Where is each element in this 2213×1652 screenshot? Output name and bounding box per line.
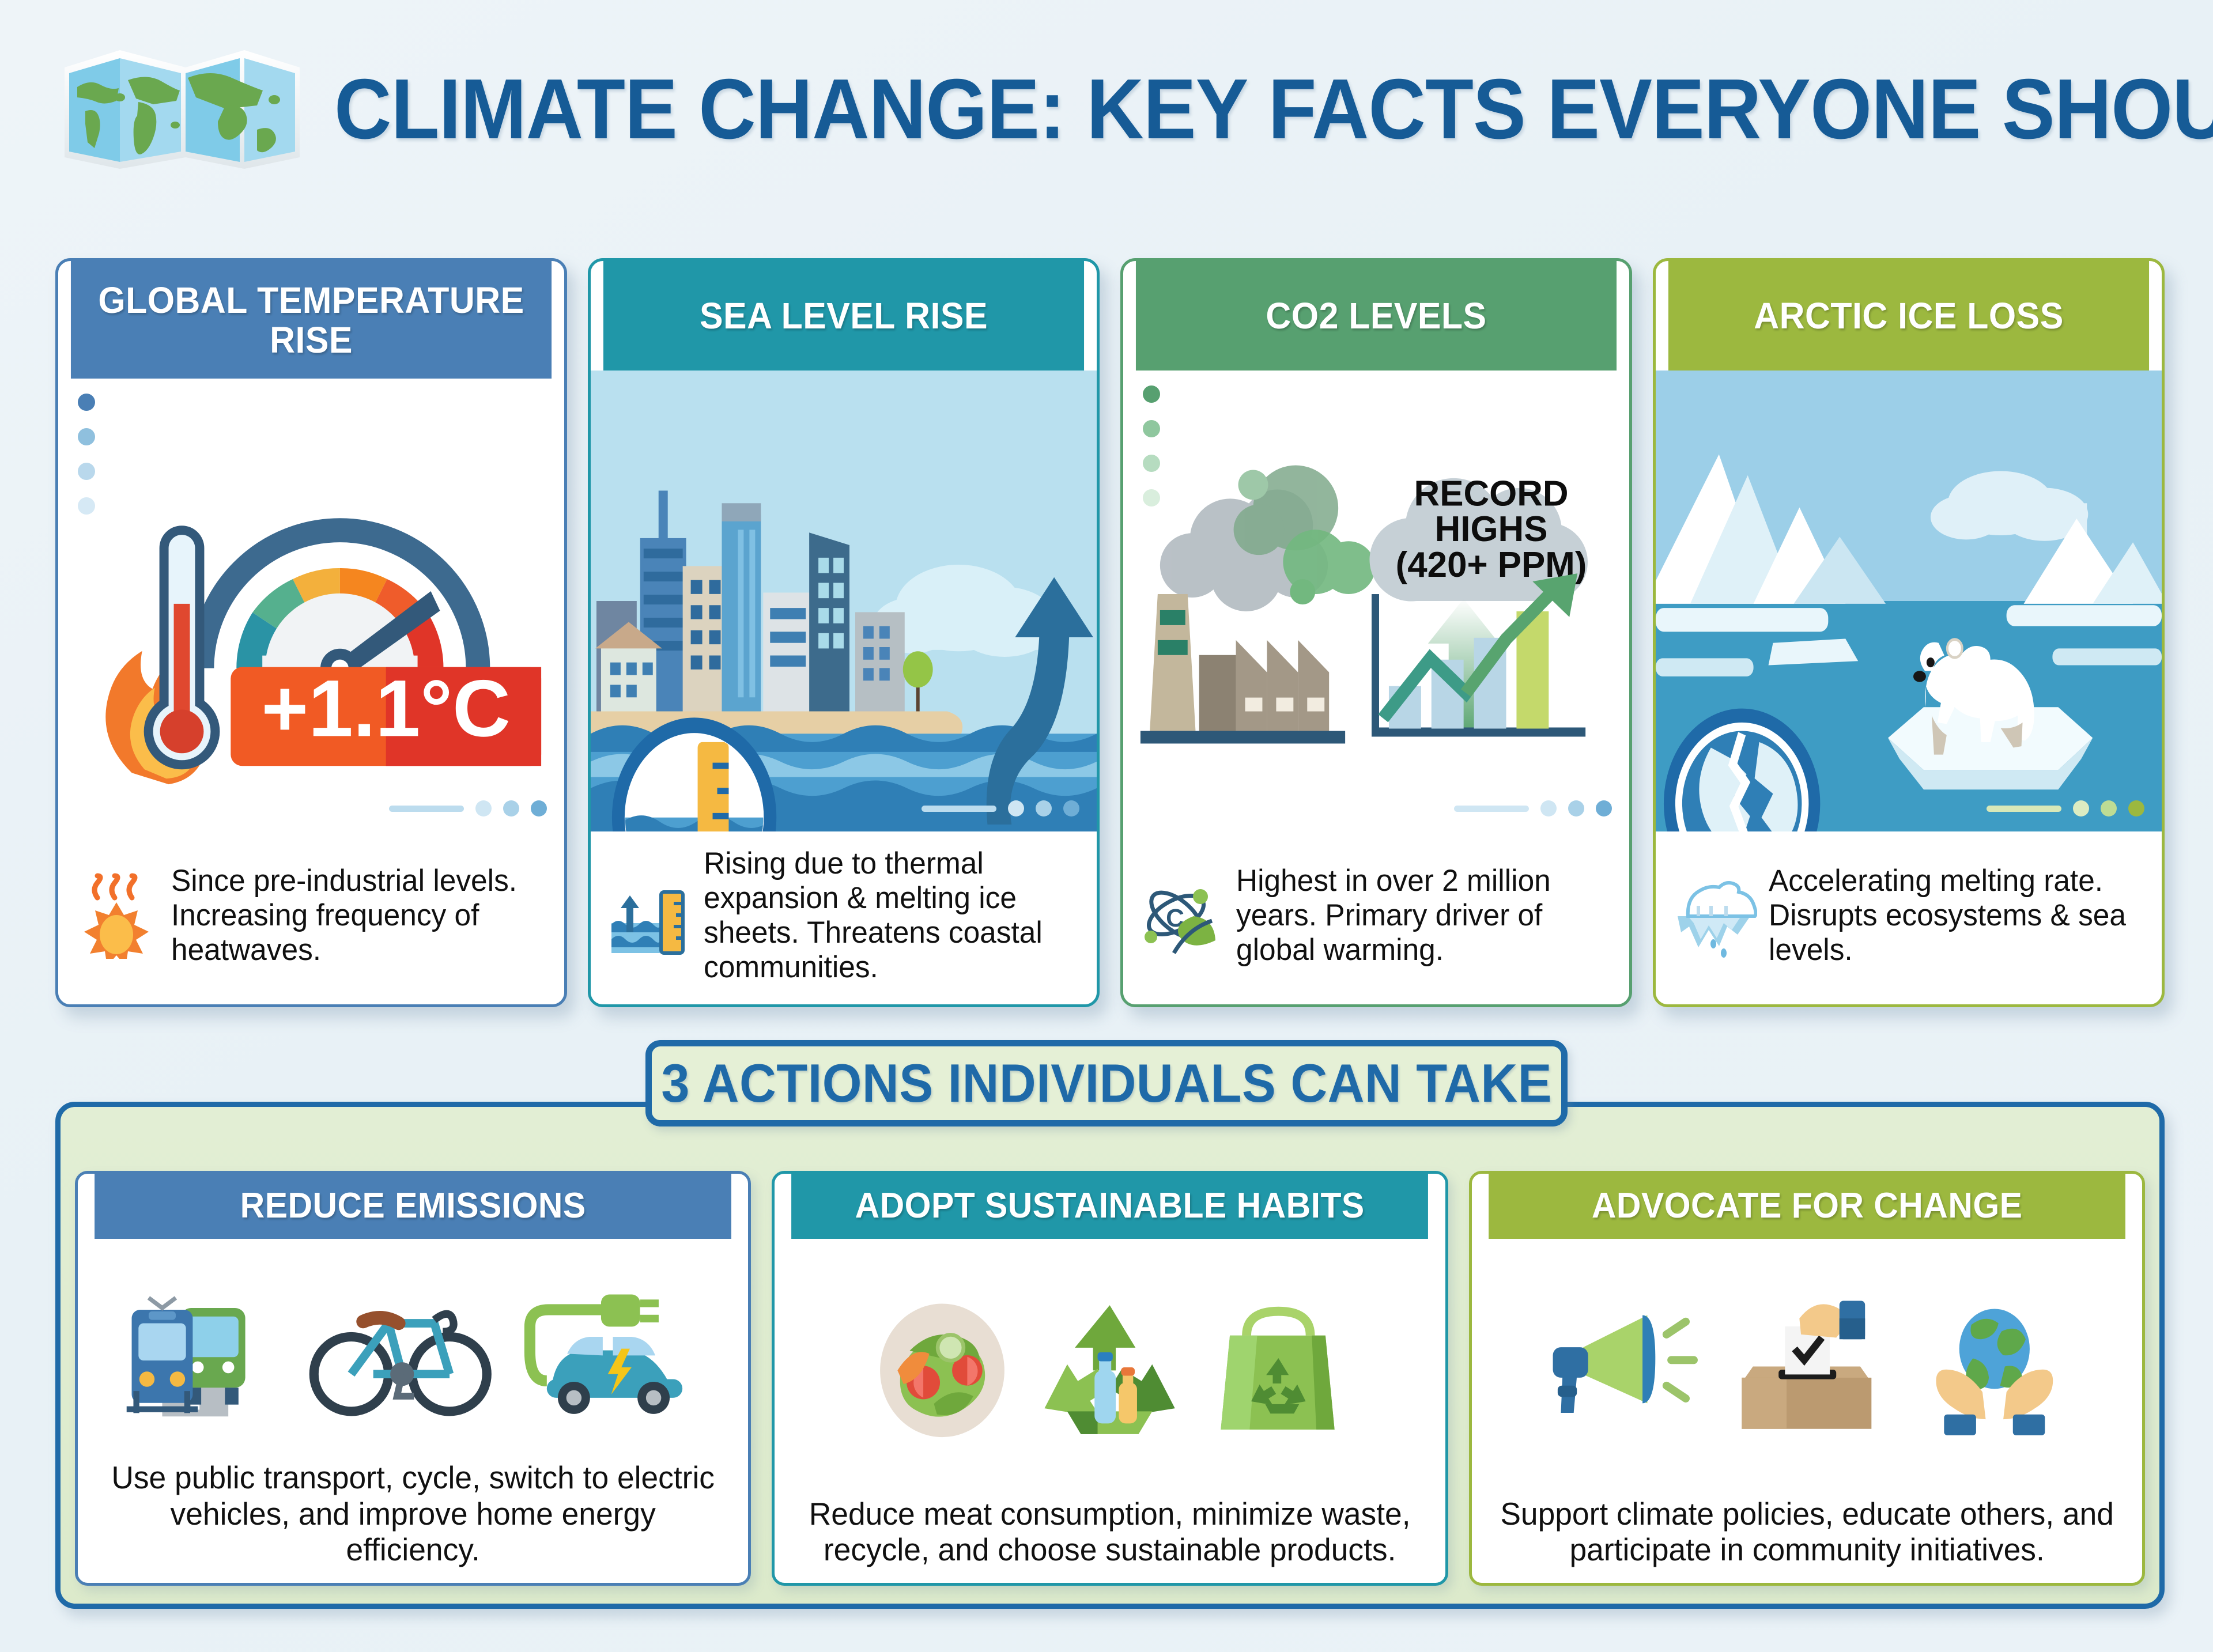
- page-header: CLIMATE CHANGE: KEY FACTS EVERYONE SHOUL…: [0, 35, 2213, 184]
- fact-card-title: SEA LEVEL RISE: [603, 261, 1084, 371]
- folded-world-map-icon: [52, 37, 311, 182]
- fact-card-description: Rising due to thermal expansion & meltin…: [704, 846, 1070, 985]
- decorative-dots-column: [78, 394, 95, 515]
- fact-card-footer: Accelerating melting rate. Disrupts ecos…: [1656, 831, 2162, 1004]
- fact-cards-row: GLOBAL TEMPERATURE RISE: [55, 258, 2165, 1007]
- tram-bus-icon: [118, 1279, 288, 1423]
- svg-text:HIGHS: HIGHS: [1435, 509, 1548, 549]
- polar-bear-melting-iceberg-icon: [1656, 371, 2162, 831]
- fact-card-title: ARCTIC ICE LOSS: [1668, 261, 2149, 371]
- fact-card-description: Accelerating melting rate. Disrupts ecos…: [1769, 864, 2135, 967]
- decorative-dots-row: [922, 800, 1079, 816]
- coastal-city-rising-water-icon: [591, 371, 1097, 831]
- carbon-atom-leaf-icon: C: [1138, 872, 1225, 959]
- decorative-dots-row: [1454, 800, 1612, 816]
- electric-car-plug-icon: [513, 1279, 708, 1423]
- ballot-box-vote-icon: [1723, 1298, 1891, 1442]
- fact-card-footer: Rising due to thermal expansion & meltin…: [591, 831, 1097, 1004]
- fact-card-sea-level[interactable]: SEA LEVEL RISE: [588, 258, 1100, 1007]
- action-card-advocate[interactable]: ADVOCATE FOR CHANGE: [1469, 1171, 2145, 1586]
- reusable-shopping-bag-icon: [1206, 1298, 1350, 1442]
- svg-text:+1.1°C: +1.1°C: [262, 664, 511, 754]
- smokestack-cloud-chart-icon: RECORD HIGHS (420+ PPM): [1123, 371, 1629, 831]
- megaphone-icon: [1535, 1298, 1704, 1442]
- action-card-icons: [1472, 1239, 2142, 1490]
- action-card-icons: [78, 1239, 748, 1454]
- action-card-icons: [775, 1239, 1445, 1490]
- bicycle-icon: [307, 1279, 494, 1423]
- fact-card-title: GLOBAL TEMPERATURE RISE: [71, 261, 552, 379]
- action-card-description: Use public transport, cycle, switch to e…: [88, 1454, 738, 1583]
- fact-card-description: Highest in over 2 million years. Primary…: [1236, 864, 1603, 967]
- melting-iceberg-bear-icon: [1671, 872, 1757, 959]
- action-cards-row: REDUCE EMISSIONS: [75, 1171, 2145, 1586]
- action-card-title: REDUCE EMISSIONS: [95, 1174, 731, 1239]
- action-card-reduce-emissions[interactable]: REDUCE EMISSIONS: [75, 1171, 751, 1586]
- decorative-dots-row: [389, 800, 547, 816]
- hands-holding-earth-icon: [1910, 1298, 2079, 1442]
- salad-bowl-icon: [870, 1298, 1014, 1442]
- fact-card-co2[interactable]: CO2 LEVELS: [1120, 258, 1632, 1007]
- action-card-description: Support climate policies, educate others…: [1482, 1490, 2132, 1583]
- actions-banner-title: 3 ACTIONS INDIVIDUALS CAN TAKE: [661, 1052, 1552, 1114]
- action-card-title: ADVOCATE FOR CHANGE: [1489, 1174, 2125, 1239]
- decorative-dots-column: [1143, 385, 1160, 506]
- fact-card-footer: C Highest in over 2 million years. Prima…: [1123, 831, 1629, 1004]
- infographic-page: CLIMATE CHANGE: KEY FACTS EVERYONE SHOUL…: [0, 0, 2213, 1652]
- actions-banner: 3 ACTIONS INDIVIDUALS CAN TAKE: [645, 1040, 1568, 1126]
- gauge-thermometer-flame-icon: +1.1°C: [58, 379, 564, 831]
- svg-text:RECORD: RECORD: [1414, 474, 1569, 513]
- fact-card-footer: Since pre-industrial levels. Increasing …: [58, 831, 564, 1004]
- decorative-dots-row: [1987, 800, 2144, 816]
- fact-card-arctic[interactable]: ARCTIC ICE LOSS: [1653, 258, 2165, 1007]
- action-card-description: Reduce meat consumption, minimize waste,…: [785, 1490, 1435, 1583]
- fact-card-title: CO2 LEVELS: [1136, 261, 1617, 371]
- page-title: CLIMATE CHANGE: KEY FACTS EVERYONE SHOUL…: [334, 61, 2213, 158]
- water-ruler-arrow-icon: [606, 872, 692, 959]
- heat-sun-icon: [73, 872, 160, 959]
- action-card-sustainable-habits[interactable]: ADOPT SUSTAINABLE HABITS: [772, 1171, 1448, 1586]
- fact-card-description: Since pre-industrial levels. Increasing …: [171, 864, 538, 967]
- action-card-title: ADOPT SUSTAINABLE HABITS: [791, 1174, 1428, 1239]
- recycle-bottles-icon: [1034, 1298, 1185, 1442]
- fact-card-temperature[interactable]: GLOBAL TEMPERATURE RISE: [55, 258, 567, 1007]
